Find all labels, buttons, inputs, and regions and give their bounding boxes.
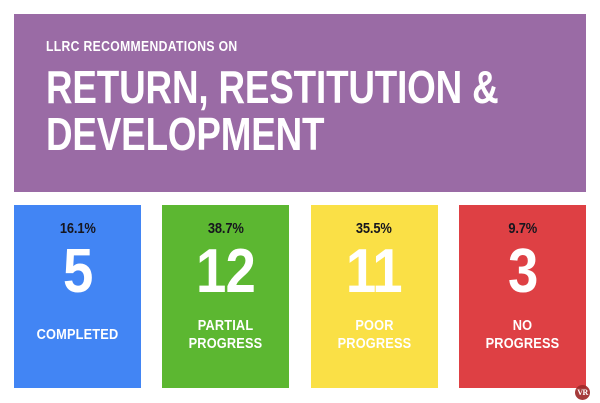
watermark-logo: VR — [575, 385, 590, 400]
stat-label-no-progress: NO PROGRESS — [467, 317, 579, 353]
infographic-canvas: LLRC RECOMMENDATIONS ON RETURN, RESTITUT… — [0, 0, 600, 403]
stat-percent-no-progress: 9.7% — [508, 221, 537, 236]
stat-card-completed: 16.1% 5 COMPLETED — [14, 205, 141, 388]
stat-percent-completed: 16.1% — [60, 221, 96, 236]
stat-percent-poor-progress: 35.5% — [356, 221, 392, 236]
stat-card-poor-progress: 35.5% 11 POOR PROGRESS — [311, 205, 438, 388]
stat-label-line-2: PROGRESS — [318, 335, 430, 353]
stat-value-no-progress: 3 — [508, 242, 537, 302]
stat-label-line-1: NO — [467, 317, 579, 335]
page-title-line-2: DEVELOPMENT — [46, 111, 478, 158]
stat-label-partial-progress: PARTIAL PROGRESS — [170, 317, 282, 353]
stat-label-poor-progress: POOR PROGRESS — [318, 317, 430, 353]
stat-label-line-1: POOR — [318, 317, 430, 335]
page-title: RETURN, RESTITUTION & DEVELOPMENT — [46, 64, 478, 158]
stat-card-partial-progress: 38.7% 12 PARTIAL PROGRESS — [162, 205, 289, 388]
stat-label-line-1: COMPLETED — [22, 326, 134, 344]
stat-label-completed: COMPLETED — [22, 326, 134, 344]
stat-percent-partial-progress: 38.7% — [208, 221, 244, 236]
stat-label-line-2: PROGRESS — [170, 335, 282, 353]
stat-value-partial-progress: 12 — [196, 242, 255, 302]
stat-label-line-2: PROGRESS — [467, 335, 579, 353]
stat-value-poor-progress: 11 — [346, 242, 402, 302]
page-title-line-1: RETURN, RESTITUTION & — [46, 64, 478, 111]
header-banner: LLRC RECOMMENDATIONS ON RETURN, RESTITUT… — [14, 14, 586, 192]
stat-label-line-1: PARTIAL — [170, 317, 282, 335]
header-eyebrow: LLRC RECOMMENDATIONS ON — [46, 40, 500, 55]
stat-value-completed: 5 — [63, 242, 92, 302]
stat-card-no-progress: 9.7% 3 NO PROGRESS — [459, 205, 586, 388]
stat-cards-row: 16.1% 5 COMPLETED 38.7% 12 PARTIAL PROGR… — [14, 205, 586, 388]
